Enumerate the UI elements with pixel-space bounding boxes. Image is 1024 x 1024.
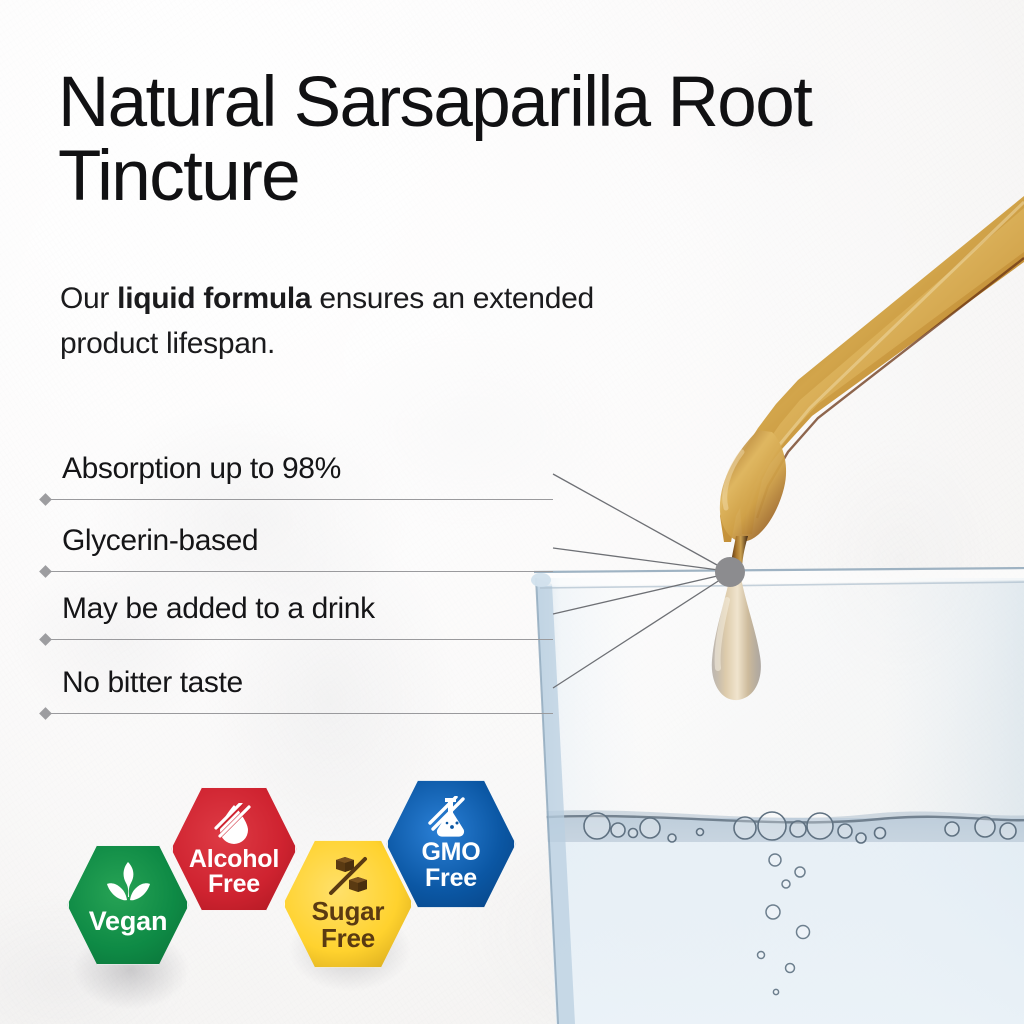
leaf-icon bbox=[105, 860, 151, 906]
badge-line-1: Vegan bbox=[89, 906, 168, 936]
badge-line-1: Sugar bbox=[312, 896, 385, 926]
badge-line-1: Alcohol bbox=[189, 845, 279, 873]
badge-line-2: Free bbox=[189, 872, 279, 898]
badge-text: Vegan bbox=[89, 908, 168, 936]
product-infographic: Natural Sarsaparilla Root Tincture Our l… bbox=[0, 0, 1024, 1024]
badge-line-2: Free bbox=[312, 925, 385, 952]
droplet-slash-icon bbox=[212, 803, 256, 845]
sugar-cubes-slash-icon bbox=[325, 856, 371, 896]
badge-text: Sugar Free bbox=[312, 898, 385, 951]
badge-alcohol-free[interactable]: Alcohol Free bbox=[170, 785, 298, 913]
badge-text: Alcohol Free bbox=[189, 847, 279, 898]
badge-text: GMO Free bbox=[421, 840, 480, 891]
certification-badges: GMO Free Alcohol Free bbox=[0, 0, 1024, 1024]
badge-line-2: Free bbox=[421, 866, 480, 892]
badge-line-1: GMO bbox=[421, 838, 480, 866]
flask-slash-icon bbox=[428, 796, 474, 838]
